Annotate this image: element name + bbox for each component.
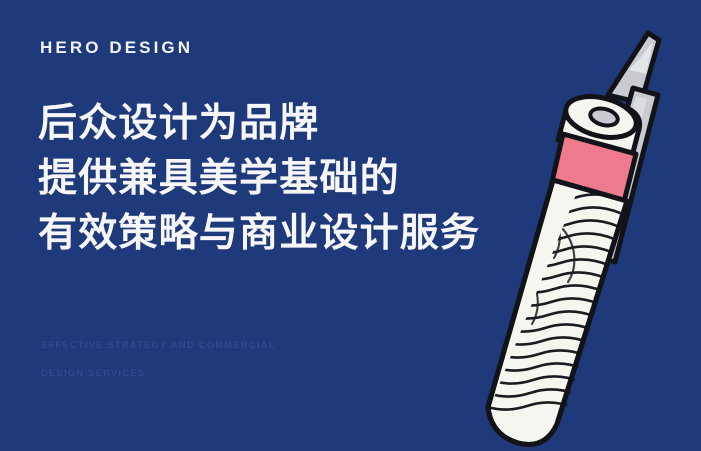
- collar-blade-socket: [588, 106, 619, 128]
- blade-highlight: [629, 42, 653, 74]
- knife-collar-group: [558, 90, 641, 160]
- blade-tip-icon: [608, 33, 659, 103]
- barrel-outline: [488, 180, 627, 444]
- subcaption-line-2: DESIGN SERVICES: [41, 360, 276, 388]
- knife-blade-group: [586, 33, 659, 262]
- headline-line-2: 提供兼具美学基础的: [38, 151, 480, 206]
- blade-shaft-highlight: [598, 96, 647, 250]
- blade-shaft: [586, 88, 658, 262]
- subcaption-line-1: EFFECTIVE STRATEGY AND COMMERCIAL: [41, 332, 276, 360]
- subcaption-block: EFFECTIVE STRATEGY AND COMMERCIAL DESIGN…: [41, 332, 276, 388]
- knife-grip-band-group: [551, 134, 636, 206]
- barrel-body: [488, 180, 627, 444]
- collar-top-ellipse: [561, 90, 640, 144]
- grip-band: [551, 134, 636, 206]
- collar-body: [558, 98, 640, 160]
- brand-label: HERO DESIGN: [40, 38, 193, 58]
- headline-line-3: 有效策略与商业设计服务: [38, 206, 480, 261]
- headline-block: 后众设计为品牌 提供兼具美学基础的 有效策略与商业设计服务: [38, 96, 480, 261]
- hero-banner: HERO DESIGN 后众设计为品牌 提供兼具美学基础的 有效策略与商业设计服…: [0, 0, 701, 451]
- headline-line-1: 后众设计为品牌: [38, 96, 480, 151]
